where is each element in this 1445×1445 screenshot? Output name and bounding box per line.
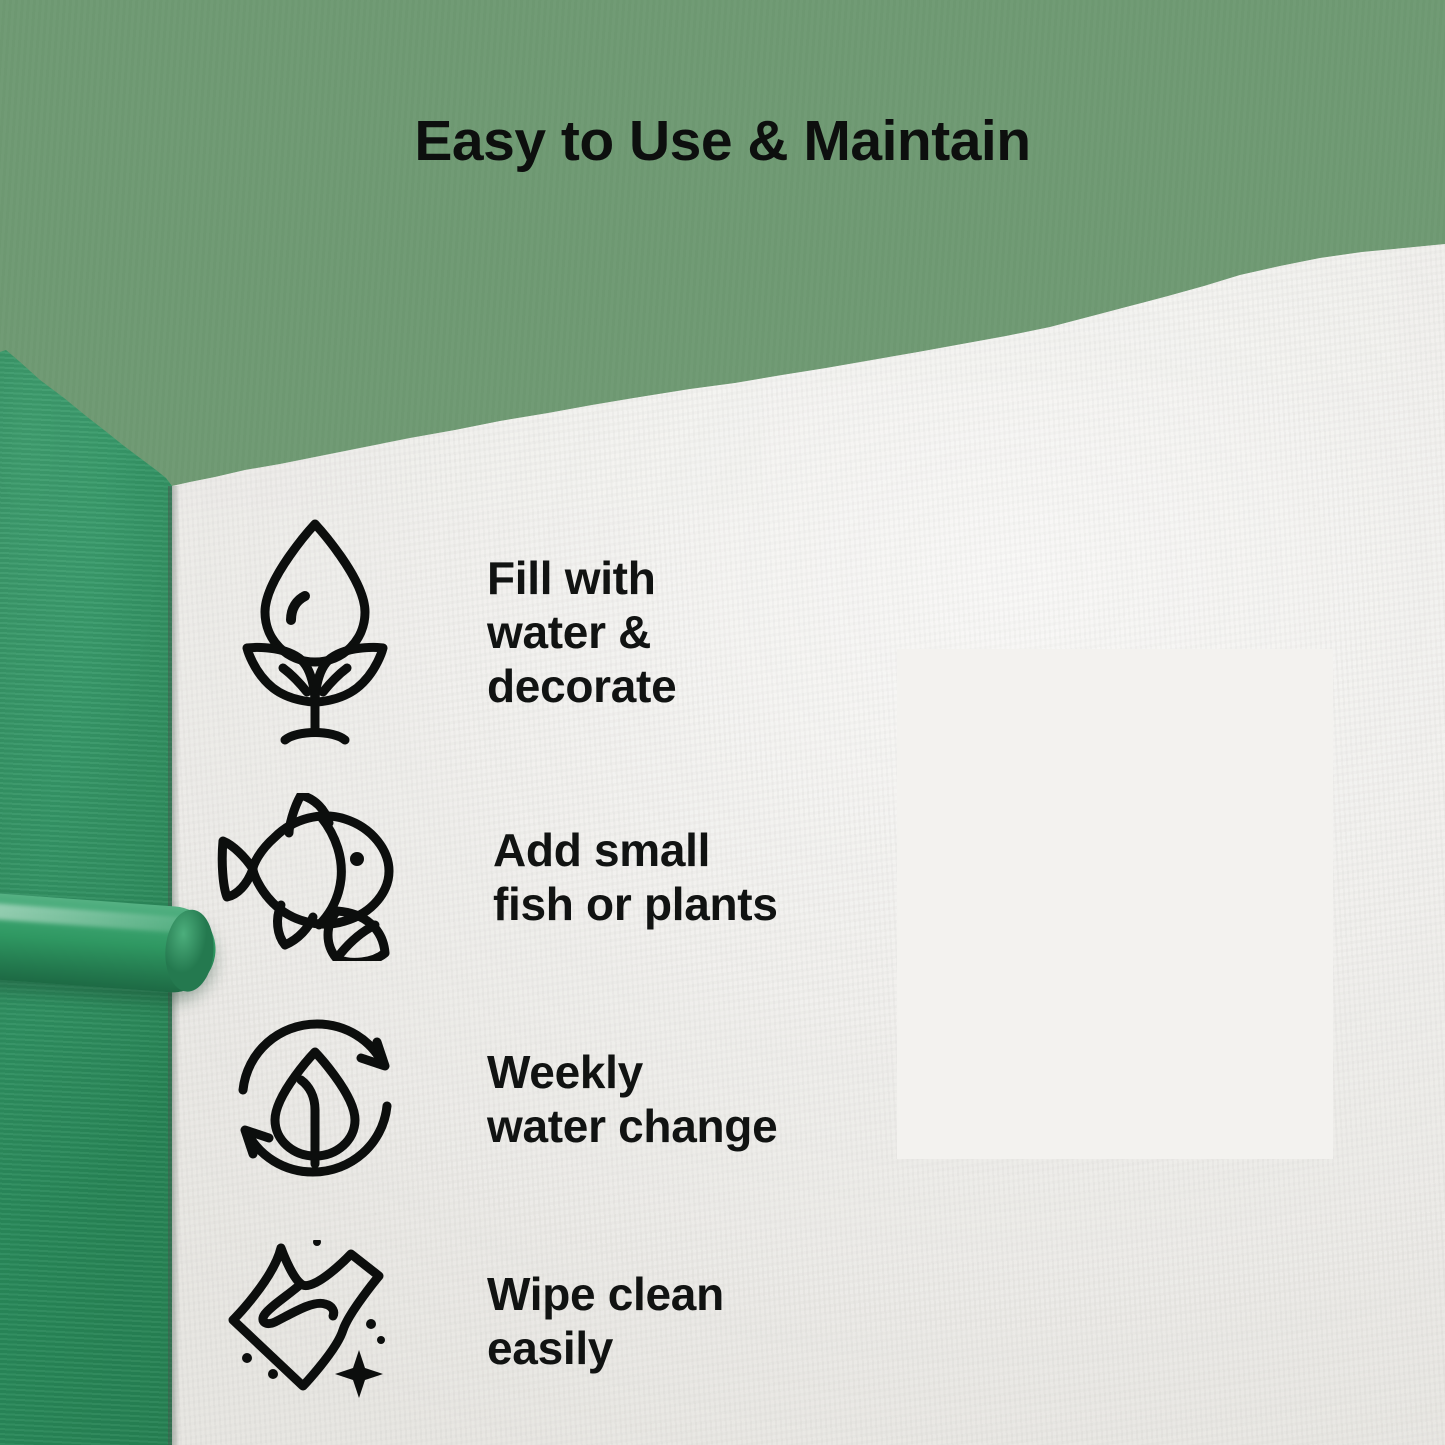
water-drop-plant-icon bbox=[215, 516, 415, 748]
poster-canvas: Easy to Use & Maintain Fill with water &… bbox=[0, 0, 1445, 1445]
list-item-label: Add small fish or plants bbox=[493, 823, 778, 932]
product-photo bbox=[905, 655, 1325, 1155]
photo-backdrop bbox=[897, 649, 1333, 1159]
pipe-highlight bbox=[0, 903, 192, 934]
page-title: Easy to Use & Maintain bbox=[0, 108, 1445, 174]
list-item: Add small fish or plants bbox=[215, 766, 935, 988]
list-item-label: Weekly water change bbox=[487, 1045, 777, 1154]
recycle-leaf-icon bbox=[215, 1014, 415, 1184]
list-item: Fill with water & decorate bbox=[215, 498, 935, 766]
feature-list: Fill with water & decorate Add small fis… bbox=[215, 498, 935, 1432]
green-pipe-handrail bbox=[0, 893, 219, 995]
list-item: Wipe clean easily bbox=[215, 1210, 935, 1432]
list-item-label: Fill with water & decorate bbox=[487, 551, 676, 714]
list-item-label: Wipe clean easily bbox=[487, 1267, 724, 1376]
wipe-cloth-sparkle-icon bbox=[215, 1240, 415, 1402]
fish-leaf-icon bbox=[215, 793, 421, 961]
list-item: Weekly water change bbox=[215, 988, 935, 1210]
